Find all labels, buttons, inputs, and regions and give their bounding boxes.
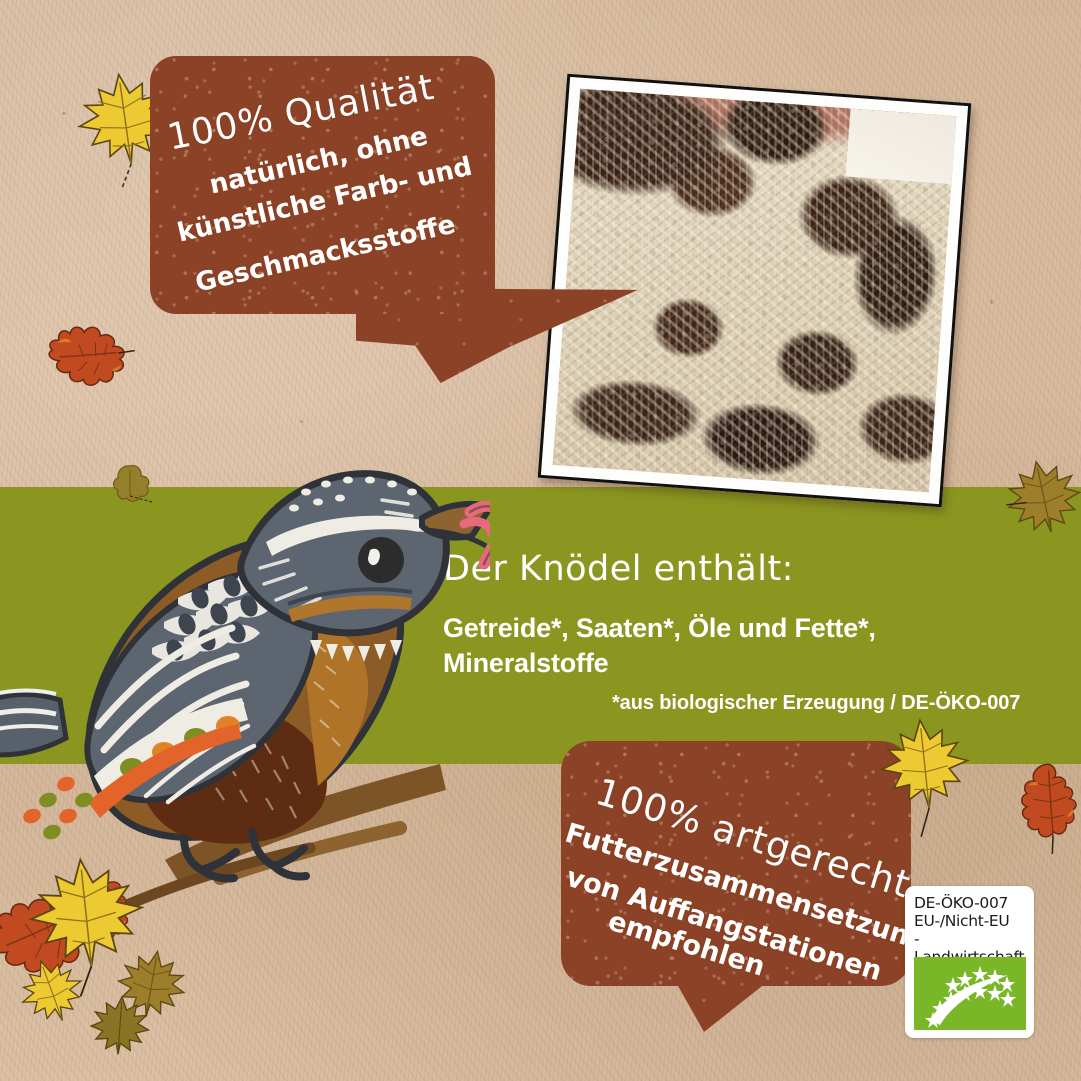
leaf-oak-red-left	[40, 313, 139, 396]
eu-organic-certification-label: DE-ÖKO-007 EU-/Nicht-EU -Landwirtschaft	[905, 886, 1034, 1038]
ingredients-list: Getreide*, Saaten*, Öle und Fette*, Mine…	[443, 611, 963, 680]
ingredients-heading: Der Knödel enthält:	[443, 549, 794, 589]
eu-organic-leaf-icon	[914, 957, 1026, 1030]
leaf-maple-yellow-bottom-right	[873, 711, 977, 824]
leaf-maple-olive-right	[998, 448, 1081, 540]
leaf-cluster-bottom-left	[0, 862, 254, 1081]
poster-canvas: Der Knödel enthält: Getreide*, Saaten*, …	[0, 0, 1081, 1081]
paper-fleck	[990, 300, 993, 304]
artgerecht-speech-bubble: 100% artgerecht Futterzusammensetzung vo…	[561, 741, 911, 986]
photo-highlight-corner	[846, 109, 956, 184]
paper-fleck	[62, 112, 66, 115]
leaf-oak-red-bottom-right	[1015, 758, 1081, 856]
quality-speech-bubble: 100% Qualität natürlich, ohne künstliche…	[150, 56, 495, 314]
finch-bird-with-worm-illustration	[0, 408, 490, 928]
